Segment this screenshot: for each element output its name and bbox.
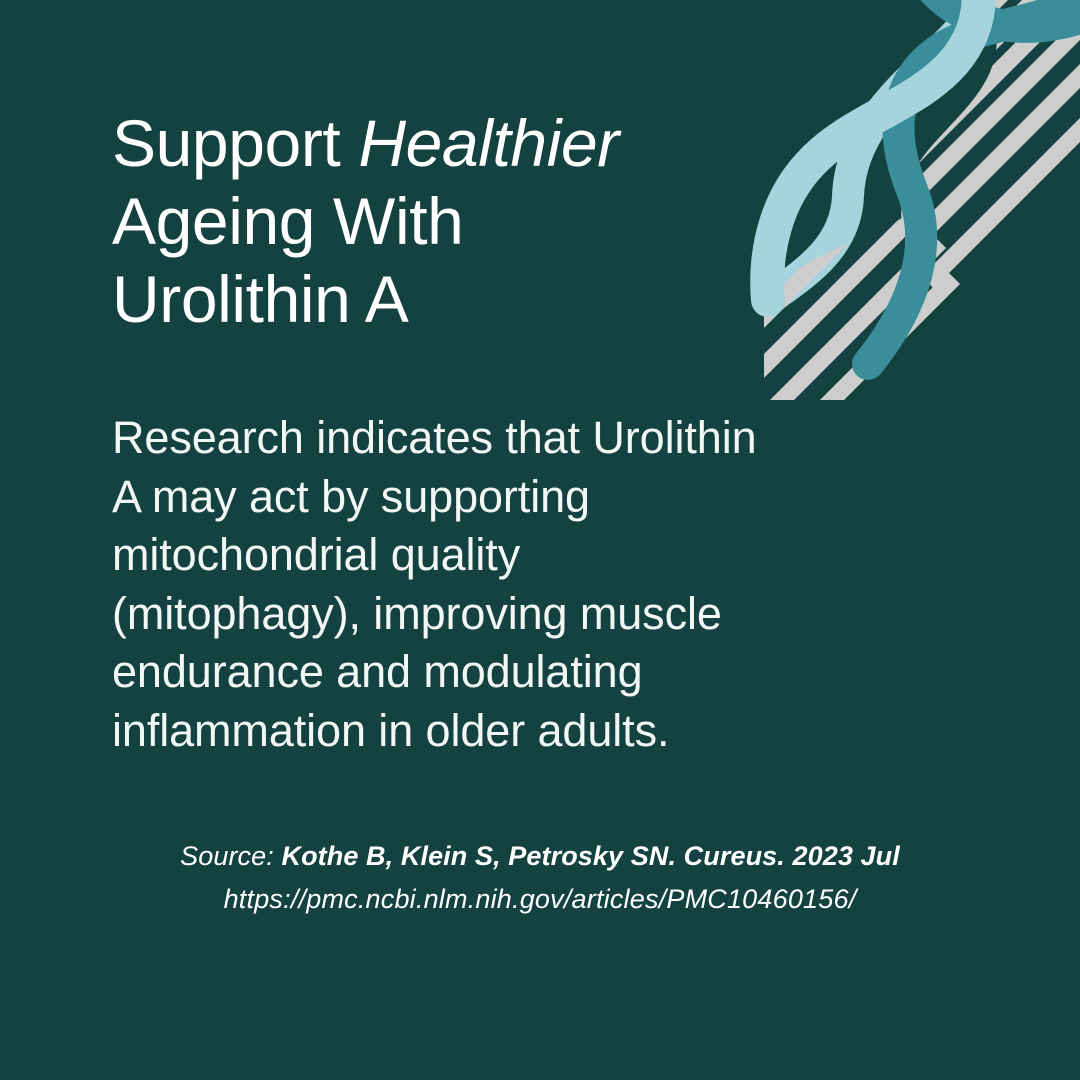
dna-strand-mid: [902, 0, 1080, 27]
dna-strand-front: [868, 0, 1080, 364]
page-title: Support Healthier Ageing With Urolithin …: [112, 104, 812, 338]
body-line: mitochondrial quality: [112, 526, 982, 585]
body-line: inflammation in older adults.: [112, 702, 982, 761]
headline-line-1: Support Healthier: [112, 104, 812, 182]
body-line: endurance and modulating: [112, 643, 982, 702]
headline-text-1: Support: [112, 106, 358, 180]
body-paragraph: Research indicates that Urolithin A may …: [112, 409, 982, 760]
headline-line-3: Urolithin A: [112, 260, 812, 338]
body-line: Research indicates that Urolithin: [112, 409, 982, 468]
headline-line-2: Ageing With: [112, 182, 812, 260]
body-line: (mitophagy), improving muscle: [112, 585, 982, 644]
source-reference-line: Source: Kothe B, Klein S, Petrosky SN. C…: [0, 834, 1080, 878]
body-line: A may act by supporting: [112, 468, 982, 527]
social-card: Support Healthier Ageing With Urolithin …: [0, 0, 1080, 1080]
source-reference: Kothe B, Klein S, Petrosky SN. Cureus. 2…: [281, 841, 899, 871]
source-label: Source:: [180, 841, 274, 871]
source-url[interactable]: https://pmc.ncbi.nlm.nih.gov/articles/PM…: [0, 878, 1080, 920]
source-citation: Source: Kothe B, Klein S, Petrosky SN. C…: [0, 834, 1080, 920]
headline-emphasis: Healthier: [358, 106, 619, 180]
